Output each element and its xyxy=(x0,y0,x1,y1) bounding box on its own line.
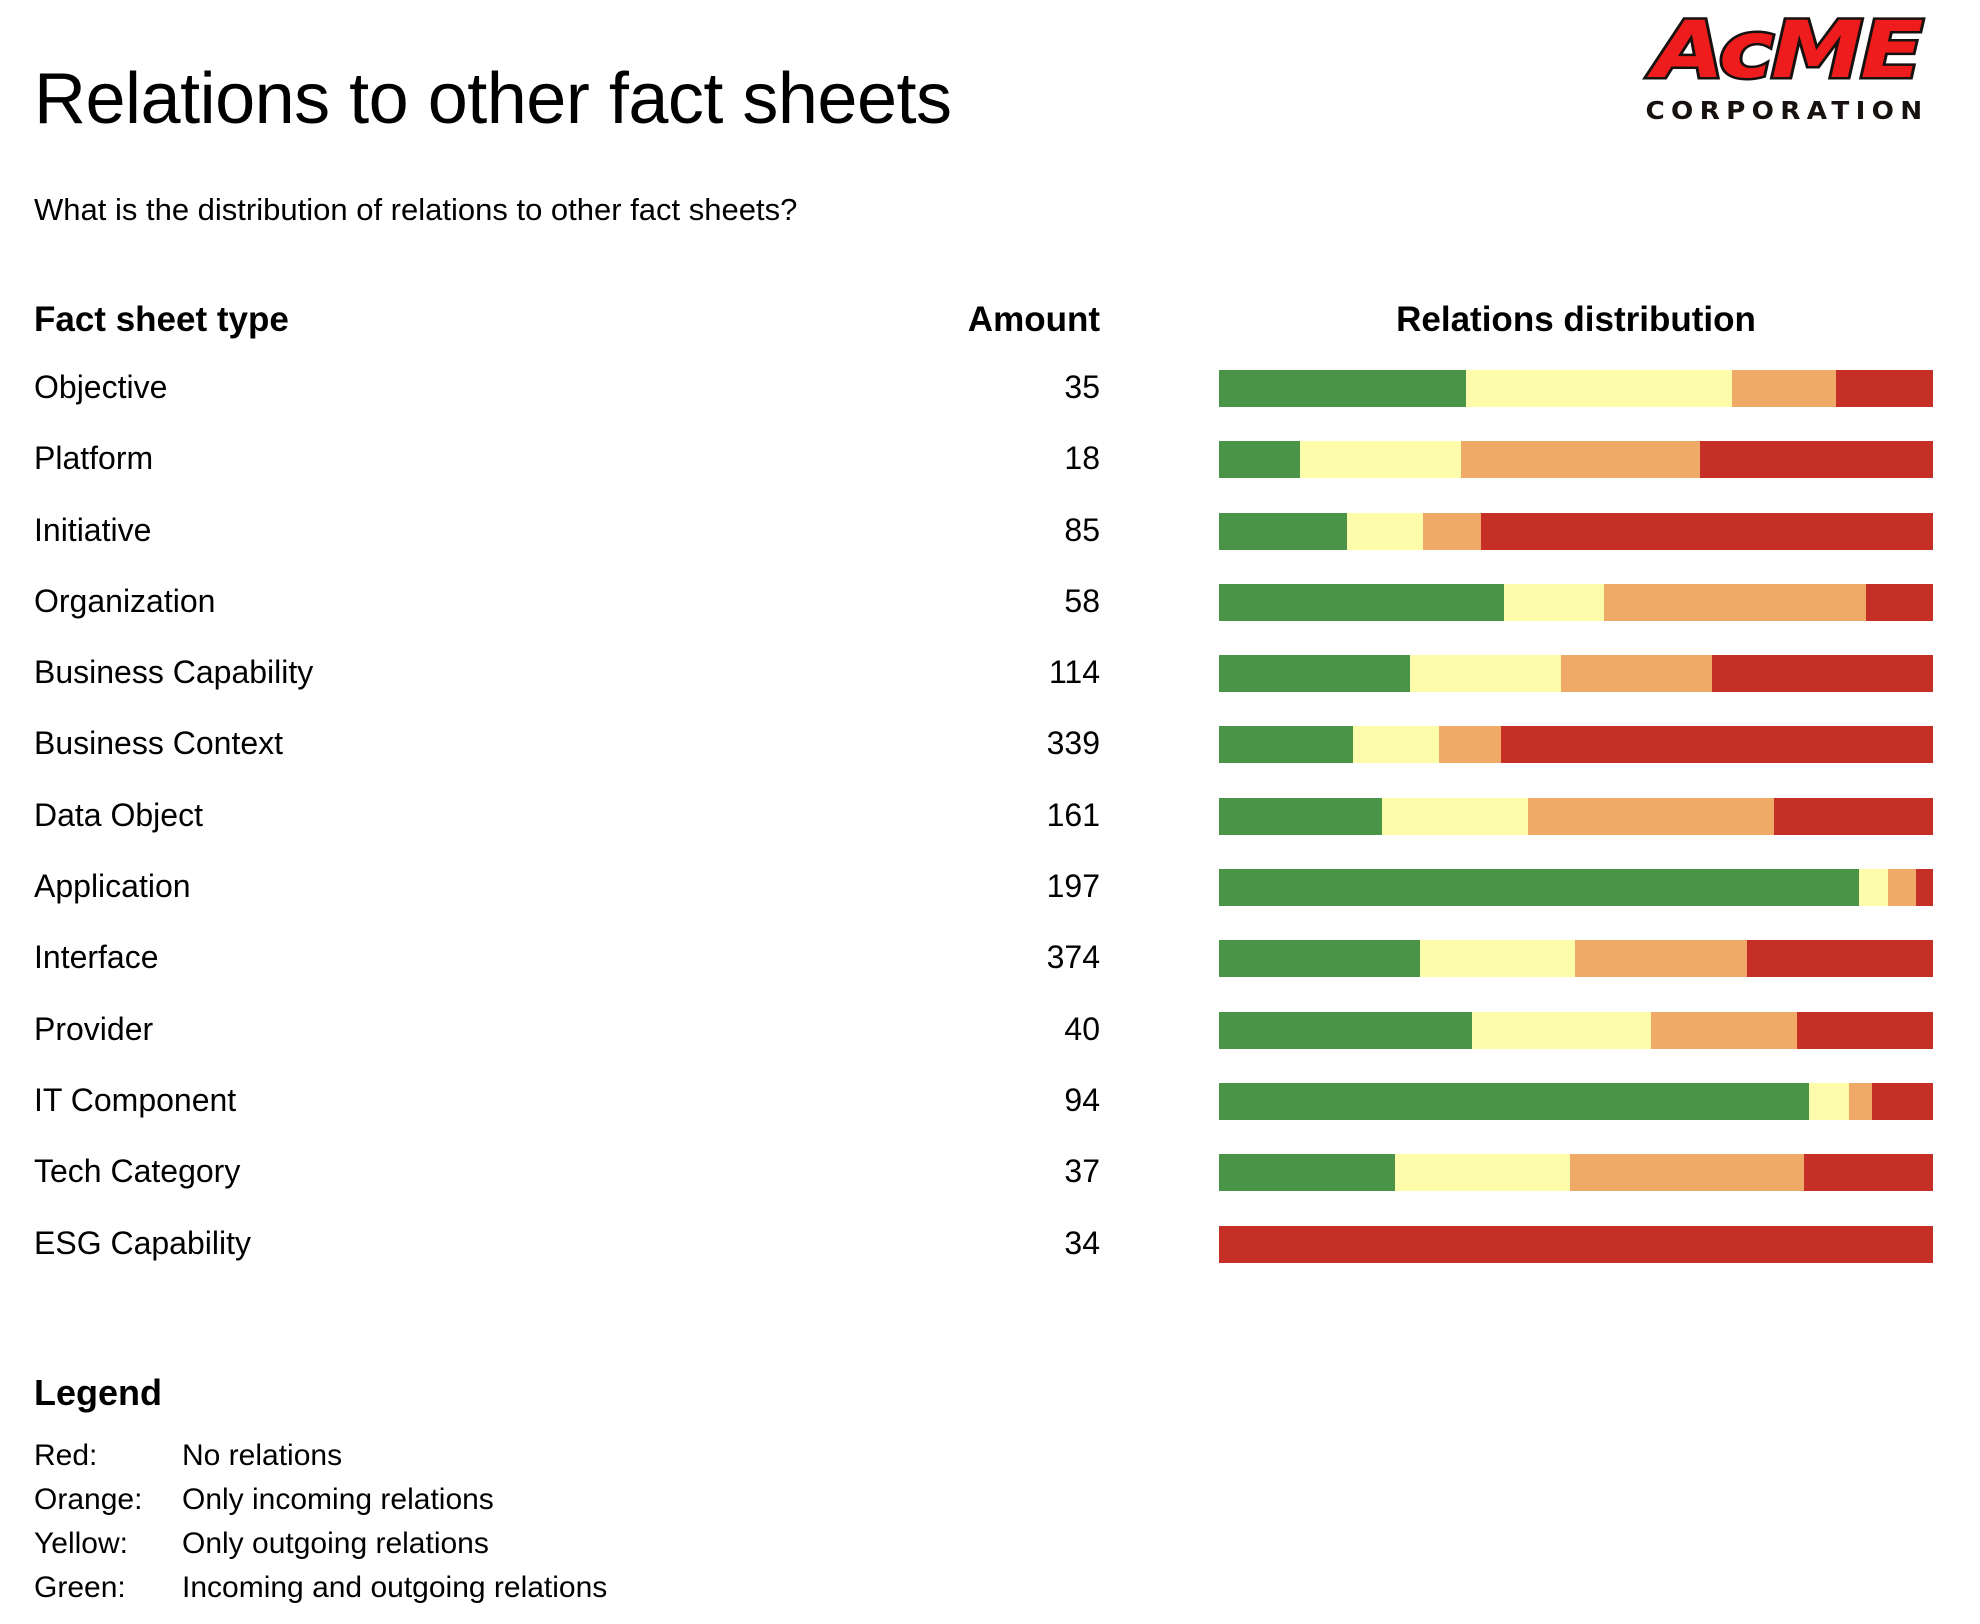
fact-sheet-amount-value: 161 xyxy=(700,794,1100,836)
bar-segment-yellow xyxy=(1353,726,1439,763)
table-row[interactable]: Objective35 xyxy=(0,370,1980,441)
fact-sheet-table-body: Objective35Platform18Initiative85Organiz… xyxy=(0,370,1980,1297)
logo-wordmark: AcME xyxy=(1616,8,1958,94)
table-row[interactable]: Business Context339 xyxy=(0,726,1980,797)
relations-distribution-bar[interactable] xyxy=(1219,441,1933,478)
fact-sheet-amount-value: 339 xyxy=(700,722,1100,764)
bar-segment-orange xyxy=(1732,370,1836,407)
acme-corporation-logo: AcME CORPORATION xyxy=(1642,8,1932,140)
bar-segment-red xyxy=(1804,1154,1933,1191)
bar-segment-yellow xyxy=(1395,1154,1570,1191)
relations-distribution-bar[interactable] xyxy=(1219,655,1933,692)
bar-segment-orange xyxy=(1604,584,1866,621)
fact-sheet-type-label: Provider xyxy=(34,1008,153,1050)
bar-segment-green xyxy=(1219,869,1859,906)
legend-item-color-name: Red: xyxy=(34,1434,182,1478)
column-header-fact-sheet-type: Fact sheet type xyxy=(34,300,289,340)
bar-segment-yellow xyxy=(1504,584,1604,621)
table-row[interactable]: Data Object161 xyxy=(0,798,1980,869)
fact-sheet-type-label: Initiative xyxy=(34,509,151,551)
table-row[interactable]: IT Component94 xyxy=(0,1083,1980,1154)
legend-item-color-name: Green: xyxy=(34,1566,182,1610)
fact-sheet-amount-value: 114 xyxy=(700,651,1100,693)
bar-segment-orange xyxy=(1423,513,1481,550)
fact-sheet-amount-value: 374 xyxy=(700,936,1100,978)
table-row[interactable]: Business Capability114 xyxy=(0,655,1980,726)
table-header-row: Fact sheet type Amount Relations distrib… xyxy=(0,300,1980,348)
bar-segment-red xyxy=(1797,1012,1933,1049)
bar-segment-green xyxy=(1219,441,1300,478)
relations-distribution-bar[interactable] xyxy=(1219,1012,1933,1049)
legend-item-description: No relations xyxy=(182,1434,607,1478)
bar-segment-green xyxy=(1219,940,1420,977)
legend-item-description: Incoming and outgoing relations xyxy=(182,1566,607,1610)
fact-sheet-type-label: ESG Capability xyxy=(34,1222,251,1264)
column-header-relations-distribution: Relations distribution xyxy=(1219,300,1933,340)
legend-item: Orange:Only incoming relations xyxy=(34,1478,607,1522)
legend-title: Legend xyxy=(34,1372,607,1414)
fact-sheet-amount-value: 58 xyxy=(700,580,1100,622)
fact-sheet-type-label: Application xyxy=(34,865,191,907)
table-row[interactable]: Interface374 xyxy=(0,940,1980,1011)
bar-segment-red xyxy=(1481,513,1933,550)
page-subtitle: What is the distribution of relations to… xyxy=(34,192,797,228)
fact-sheet-type-label: IT Component xyxy=(34,1079,236,1121)
bar-segment-red xyxy=(1747,940,1933,977)
legend-item-color-name: Yellow: xyxy=(34,1522,182,1566)
bar-segment-orange xyxy=(1849,1083,1872,1120)
fact-sheet-type-label: Platform xyxy=(34,437,153,479)
legend-item: Red:No relations xyxy=(34,1434,607,1478)
bar-segment-yellow xyxy=(1382,798,1528,835)
column-header-amount: Amount xyxy=(700,300,1100,340)
bar-segment-red xyxy=(1700,441,1933,478)
relations-distribution-bar[interactable] xyxy=(1219,940,1933,977)
legend-item-color-name: Orange: xyxy=(34,1478,182,1522)
legend-item-description: Only incoming relations xyxy=(182,1478,607,1522)
bar-segment-green xyxy=(1219,584,1504,621)
legend-item: Yellow:Only outgoing relations xyxy=(34,1522,607,1566)
bar-segment-red xyxy=(1712,655,1933,692)
bar-segment-green xyxy=(1219,1012,1472,1049)
bar-segment-orange xyxy=(1888,869,1916,906)
relations-distribution-bar[interactable] xyxy=(1219,1154,1933,1191)
bar-segment-yellow xyxy=(1466,370,1732,407)
fact-sheet-amount-value: 197 xyxy=(700,865,1100,907)
logo-subtitle: CORPORATION xyxy=(1635,96,1940,126)
legend-item-description: Only outgoing relations xyxy=(182,1522,607,1566)
relations-distribution-bar[interactable] xyxy=(1219,370,1933,407)
relations-distribution-bar[interactable] xyxy=(1219,1226,1933,1263)
relations-distribution-bar[interactable] xyxy=(1219,869,1933,906)
bar-segment-yellow xyxy=(1859,869,1888,906)
legend-item: Green:Incoming and outgoing relations xyxy=(34,1566,607,1610)
relations-distribution-bar[interactable] xyxy=(1219,584,1933,621)
bar-segment-red xyxy=(1836,370,1933,407)
table-row[interactable]: ESG Capability34 xyxy=(0,1226,1980,1297)
relations-distribution-bar[interactable] xyxy=(1219,1083,1933,1120)
bar-segment-yellow xyxy=(1420,940,1574,977)
fact-sheet-amount-value: 85 xyxy=(700,509,1100,551)
fact-sheet-type-label: Objective xyxy=(34,366,167,408)
bar-segment-green xyxy=(1219,726,1353,763)
table-row[interactable]: Platform18 xyxy=(0,441,1980,512)
fact-sheet-amount-value: 94 xyxy=(700,1079,1100,1121)
bar-segment-orange xyxy=(1528,798,1774,835)
bar-segment-green xyxy=(1219,370,1466,407)
fact-sheet-amount-value: 37 xyxy=(700,1150,1100,1192)
fact-sheet-amount-value: 35 xyxy=(700,366,1100,408)
fact-sheet-type-label: Business Context xyxy=(34,722,283,764)
relations-distribution-bar[interactable] xyxy=(1219,513,1933,550)
table-row[interactable]: Initiative85 xyxy=(0,513,1980,584)
fact-sheet-type-label: Tech Category xyxy=(34,1150,240,1192)
bar-segment-green xyxy=(1219,1083,1809,1120)
bar-segment-red xyxy=(1866,584,1933,621)
bar-segment-yellow xyxy=(1410,655,1561,692)
legend-items: Red:No relationsOrange:Only incoming rel… xyxy=(34,1434,607,1610)
table-row[interactable]: Tech Category37 xyxy=(0,1154,1980,1225)
bar-segment-yellow xyxy=(1300,441,1461,478)
fact-sheet-amount-value: 18 xyxy=(700,437,1100,479)
relations-distribution-bar[interactable] xyxy=(1219,798,1933,835)
bar-segment-green xyxy=(1219,513,1347,550)
bar-segment-yellow xyxy=(1347,513,1423,550)
bar-segment-red xyxy=(1219,1226,1933,1263)
bar-segment-green xyxy=(1219,655,1410,692)
bar-segment-yellow xyxy=(1472,1012,1651,1049)
bar-segment-red xyxy=(1774,798,1933,835)
fact-sheet-amount-value: 40 xyxy=(700,1008,1100,1050)
bar-segment-orange xyxy=(1439,726,1501,763)
bar-segment-green xyxy=(1219,1154,1395,1191)
bar-segment-orange xyxy=(1651,1012,1797,1049)
relations-distribution-bar[interactable] xyxy=(1219,726,1933,763)
fact-sheet-type-label: Interface xyxy=(34,936,159,978)
fact-sheet-type-label: Data Object xyxy=(34,794,203,836)
bar-segment-orange xyxy=(1461,441,1700,478)
bar-segment-red xyxy=(1916,869,1933,906)
legend: Legend Red:No relationsOrange:Only incom… xyxy=(34,1372,607,1610)
table-row[interactable]: Application197 xyxy=(0,869,1980,940)
fact-sheet-type-label: Organization xyxy=(34,580,215,622)
page-title: Relations to other fact sheets xyxy=(34,62,952,138)
table-row[interactable]: Organization58 xyxy=(0,584,1980,655)
bar-segment-red xyxy=(1501,726,1933,763)
bar-segment-green xyxy=(1219,798,1382,835)
bar-segment-orange xyxy=(1561,655,1712,692)
table-row[interactable]: Provider40 xyxy=(0,1012,1980,1083)
fact-sheet-type-label: Business Capability xyxy=(34,651,313,693)
bar-segment-yellow xyxy=(1809,1083,1848,1120)
fact-sheet-amount-value: 34 xyxy=(700,1222,1100,1264)
bar-segment-orange xyxy=(1575,940,1747,977)
bar-segment-orange xyxy=(1570,1154,1804,1191)
bar-segment-red xyxy=(1872,1083,1933,1120)
